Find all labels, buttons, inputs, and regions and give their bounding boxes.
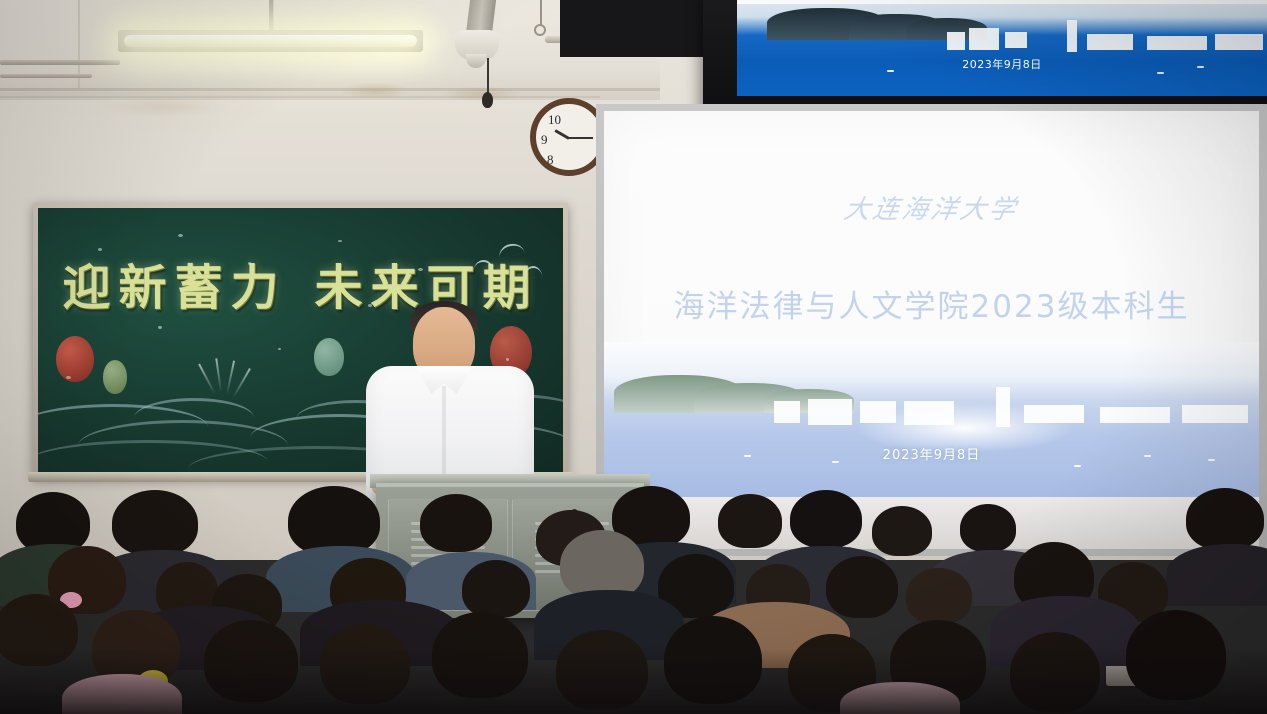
clock-hour-hand (554, 129, 569, 140)
clock-numeral-10: 10 (548, 112, 561, 128)
slide-date: 2023年9月8日 (604, 444, 1259, 463)
ceiling-seam (0, 88, 660, 91)
university-logo: 大连海洋大学 (604, 189, 1259, 226)
ceiling-chain (540, 0, 542, 26)
wall-stain (340, 82, 410, 100)
balloon-red-left (56, 336, 94, 382)
tv-slide-image: 2023年9月8日 (737, 4, 1267, 96)
tv-screen: 2023年9月8日 (737, 0, 1267, 96)
chalkboard-slogan: 迎新蓄力未来可期 (38, 248, 563, 318)
audience-head (112, 490, 198, 556)
balloon-green-left (103, 360, 127, 394)
balloon-green-mid (314, 338, 344, 376)
tv-date-overlay: 2023年9月8日 (737, 56, 1267, 72)
clock-numeral-8: 8 (547, 152, 554, 168)
audience-head (872, 506, 932, 556)
audience-head (790, 490, 862, 548)
sparkle-ray-1 (198, 364, 216, 395)
projector-arm (466, 0, 496, 34)
audience-head (826, 556, 898, 618)
audience-shoulders (1166, 544, 1267, 606)
hanging-cord (487, 58, 489, 94)
audience-head (462, 560, 530, 618)
chalk-phrase-1: 迎新蓄力 (62, 260, 286, 316)
sparkle-ray-3 (226, 361, 235, 395)
audience-head (420, 494, 492, 552)
light-stem (269, 0, 273, 32)
audience-head (718, 494, 782, 548)
sparkle-ray-4 (232, 368, 251, 398)
wall-conduit (0, 60, 120, 65)
clock-numeral-9: 9 (541, 132, 548, 148)
ceiling-hook-icon (534, 24, 546, 36)
slide-coast-photo (604, 342, 1259, 497)
chalk-wave-3 (134, 398, 254, 438)
fluorescent-light-icon (124, 35, 417, 47)
audience-head (960, 504, 1016, 552)
wall-stain-3 (104, 96, 224, 118)
clock-minute-hand (569, 137, 593, 139)
audience-head (906, 568, 972, 624)
cord-weight (482, 92, 493, 108)
audience-head (1186, 488, 1264, 550)
sparkle-ray-2 (215, 358, 222, 392)
wall-conduit-2 (0, 74, 92, 78)
slide-title-line-1: 海洋法律与人文学院2023级本科生 (604, 281, 1259, 333)
foreground-shadow (0, 648, 1267, 714)
classroom-photo-scene: 10 9 8 迎新蓄力未来可期 (0, 0, 1267, 714)
